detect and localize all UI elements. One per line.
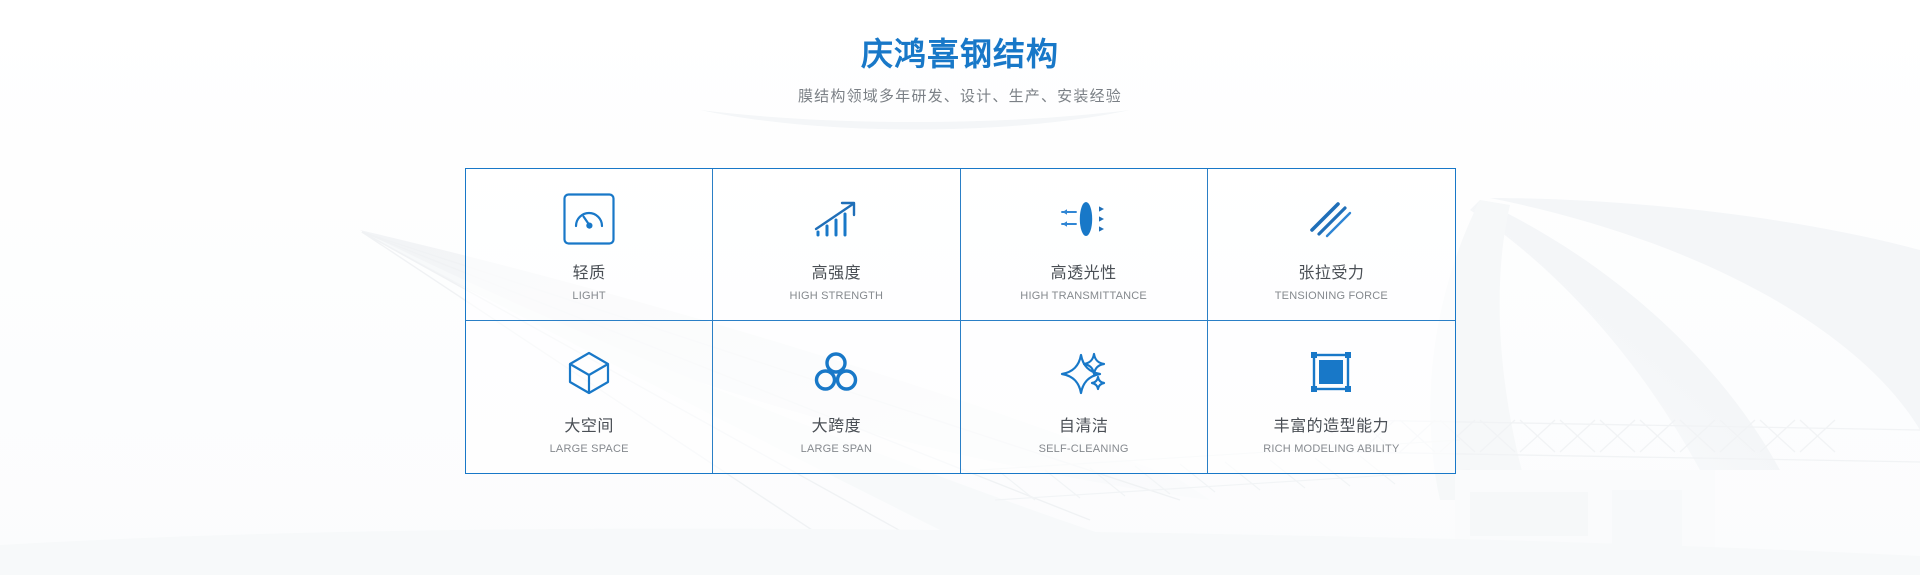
feature-label-cn: 自清洁 bbox=[1059, 414, 1109, 438]
feature-cell-rich-modeling-ability[interactable]: 丰富的造型能力 RICH MODELING ABILITY bbox=[1208, 321, 1455, 473]
diagonal-lines-tension-icon bbox=[1305, 191, 1357, 247]
feature-label-en: RICH MODELING ABILITY bbox=[1263, 441, 1399, 457]
feature-cell-high-strength[interactable]: 高强度 HIGH STRENGTH bbox=[713, 169, 960, 321]
feature-label-en: HIGH STRENGTH bbox=[790, 288, 884, 304]
feature-cell-high-transmittance[interactable]: 高透光性 HIGH TRANSMITTANCE bbox=[961, 169, 1208, 321]
feature-label-cn: 轻质 bbox=[573, 261, 606, 285]
feature-label-cn: 张拉受力 bbox=[1298, 261, 1364, 285]
light-transmittance-lens-icon bbox=[1056, 191, 1112, 247]
page-subtitle: 膜结构领域多年研发、设计、生产、安装经验 bbox=[0, 85, 1920, 107]
feature-label-en: LIGHT bbox=[572, 288, 605, 304]
feature-cell-self-cleaning[interactable]: 自清洁 SELF-CLEANING bbox=[961, 321, 1208, 473]
feature-label-cn: 大空间 bbox=[564, 414, 614, 438]
page-header: 庆鸿喜钢结构 膜结构领域多年研发、设计、生产、安装经验 bbox=[0, 0, 1920, 107]
feature-label-cn: 丰富的造型能力 bbox=[1274, 414, 1390, 438]
sparkle-clean-icon bbox=[1057, 344, 1111, 400]
page-title: 庆鸿喜钢结构 bbox=[0, 32, 1920, 76]
feature-label-en: HIGH TRANSMITTANCE bbox=[1020, 288, 1147, 304]
feature-cell-light[interactable]: 轻质 LIGHT bbox=[466, 169, 713, 321]
feature-cell-tensioning-force[interactable]: 张拉受力 TENSIONING FORCE bbox=[1208, 169, 1455, 321]
gauge-icon bbox=[563, 191, 615, 247]
feature-label-cn: 高透光性 bbox=[1051, 261, 1117, 285]
three-circles-icon bbox=[810, 344, 862, 400]
feature-label-en: LARGE SPACE bbox=[550, 441, 629, 457]
cube-icon bbox=[564, 344, 614, 400]
feature-cell-large-space[interactable]: 大空间 LARGE SPACE bbox=[466, 321, 713, 473]
feature-grid: 轻质 LIGHT 高强度 HIGH STRENGTH bbox=[465, 168, 1456, 474]
feature-label-cn: 高强度 bbox=[812, 261, 862, 285]
framed-square-icon bbox=[1306, 344, 1356, 400]
growth-chart-arrow-icon bbox=[809, 191, 863, 247]
feature-label-en: TENSIONING FORCE bbox=[1275, 288, 1388, 304]
feature-label-en: LARGE SPAN bbox=[801, 441, 873, 457]
feature-label-cn: 大跨度 bbox=[812, 414, 862, 438]
feature-label-en: SELF-CLEANING bbox=[1039, 441, 1129, 457]
feature-cell-large-span[interactable]: 大跨度 LARGE SPAN bbox=[713, 321, 960, 473]
